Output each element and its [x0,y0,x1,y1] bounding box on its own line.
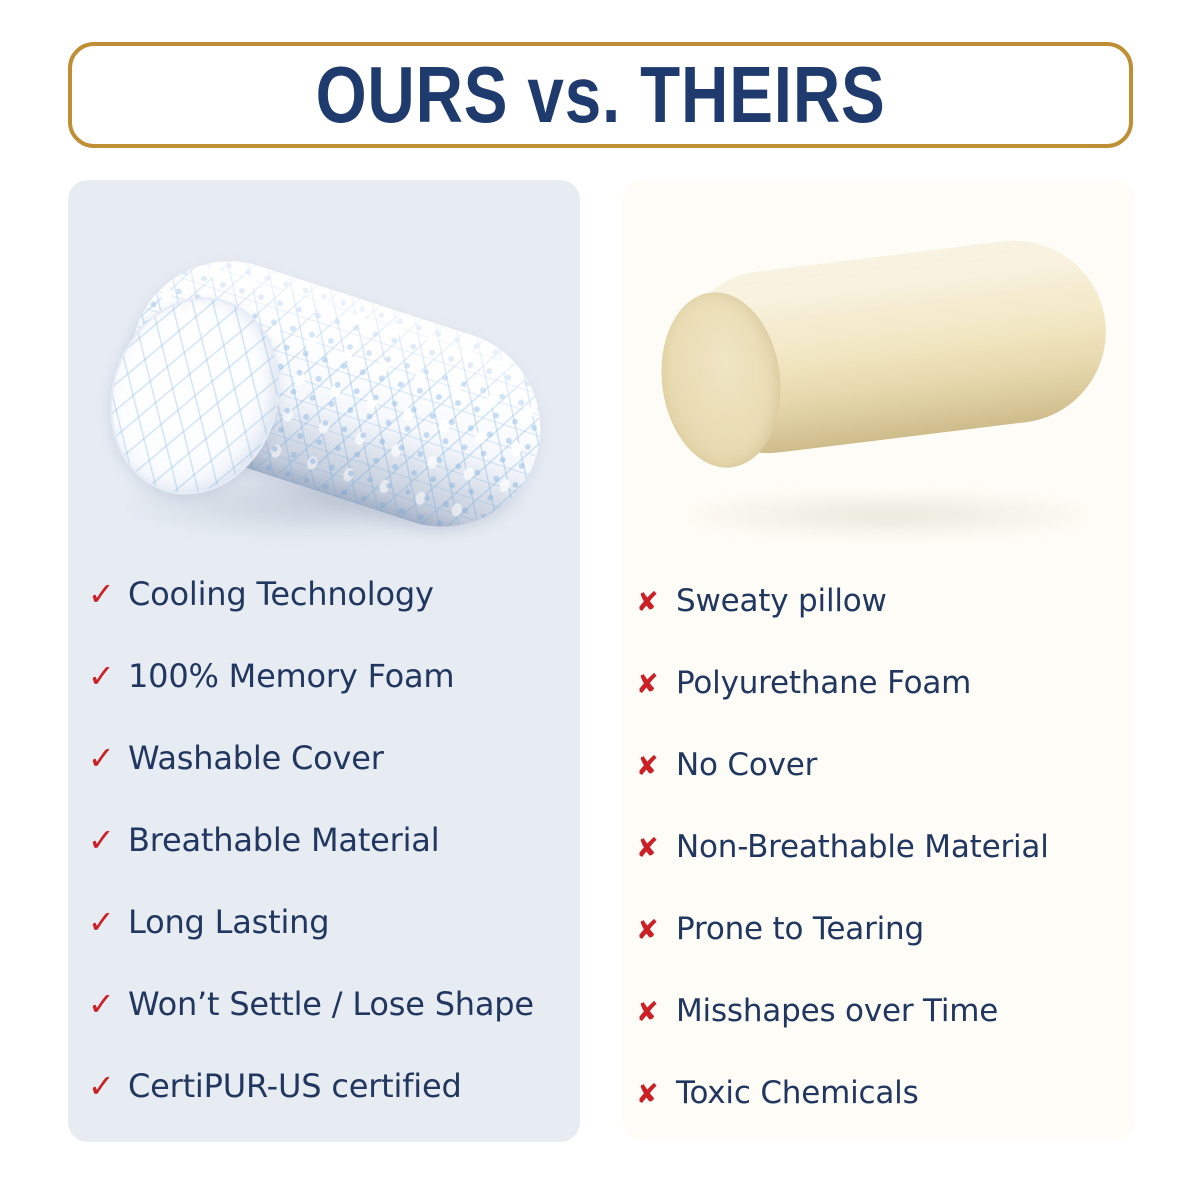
feature-label: Polyurethane Foam [676,668,971,699]
ours-feature-list: ✓ Cooling Technology ✓ 100% Memory Foam … [88,578,588,1152]
check-icon: ✓ [88,578,128,610]
cross-icon: ✘ [636,1081,676,1108]
list-item: ✓ Cooling Technology [88,578,588,660]
feature-label: Cooling Technology [128,578,434,610]
cross-icon: ✘ [636,917,676,944]
check-icon: ✓ [88,824,128,856]
cross-icon: ✘ [636,835,676,862]
list-item: ✓ 100% Memory Foam [88,660,588,742]
feature-label: Breathable Material [128,824,439,856]
feature-label: Washable Cover [128,742,384,774]
cross-icon: ✘ [636,999,676,1026]
theirs-feature-list: ✘ Sweaty pillow ✘ Polyurethane Foam ✘ No… [636,586,1136,1160]
list-item: ✘ Polyurethane Foam [636,668,1136,750]
list-item: ✓ Won’t Settle / Lose Shape [88,988,588,1070]
list-item: ✓ Washable Cover [88,742,588,824]
list-item: ✘ Sweaty pillow [636,586,1136,668]
list-item: ✘ Non-Breathable Material [636,832,1136,914]
list-item: ✘ Misshapes over Time [636,996,1136,1078]
list-item: ✓ Breathable Material [88,824,588,906]
list-item: ✓ Long Lasting [88,906,588,988]
list-item: ✘ Toxic Chemicals [636,1078,1136,1160]
list-item: ✓ CertiPUR-US certified [88,1070,588,1152]
feature-label: No Cover [676,750,817,781]
check-icon: ✓ [88,1070,128,1102]
ours-product-image [68,180,580,570]
check-icon: ✓ [88,906,128,938]
cross-icon: ✘ [636,671,676,698]
feature-label: Sweaty pillow [676,586,887,617]
theirs-product-image [622,180,1135,570]
feature-label: Prone to Tearing [676,914,924,945]
plain-foam-pillow-illustration [638,230,1128,560]
page-title: OURS vs. THEIRS [315,55,885,135]
check-icon: ✓ [88,660,128,692]
check-icon: ✓ [88,742,128,774]
feature-label: Misshapes over Time [676,996,998,1027]
cooling-bolster-pillow-illustration [86,210,566,570]
cross-icon: ✘ [636,753,676,780]
feature-label: Won’t Settle / Lose Shape [128,988,534,1020]
feature-label: CertiPUR-US certified [128,1070,462,1102]
check-icon: ✓ [88,988,128,1020]
pillow-shadow [688,492,1088,538]
title-banner: OURS vs. THEIRS [68,42,1133,148]
feature-label: Non-Breathable Material [676,832,1049,863]
cross-icon: ✘ [636,589,676,616]
list-item: ✘ Prone to Tearing [636,914,1136,996]
feature-label: Toxic Chemicals [676,1078,919,1109]
feature-label: Long Lasting [128,906,329,938]
list-item: ✘ No Cover [636,750,1136,832]
feature-label: 100% Memory Foam [128,660,454,692]
